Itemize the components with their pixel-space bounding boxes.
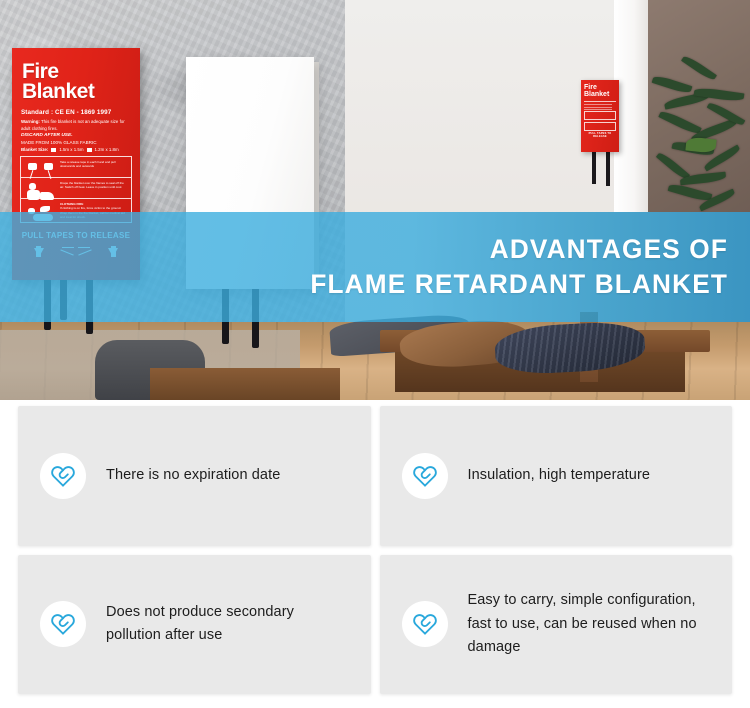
wall-package-rule bbox=[584, 104, 612, 105]
step-pictogram-pull-tapes bbox=[24, 160, 57, 175]
heart-icon bbox=[402, 601, 448, 647]
step-text: Drape the blanket over the flames to sea… bbox=[60, 181, 128, 196]
step-pictogram-drape-blanket bbox=[24, 181, 57, 196]
package-material: MADE FROM 100% GLASS FABRIC bbox=[12, 138, 140, 145]
package-warning: Warning: This fire blanket is not an ade… bbox=[12, 116, 140, 132]
wooden-table bbox=[150, 368, 340, 400]
size-checkbox-1 bbox=[51, 148, 56, 152]
banner-headline-line1: ADVANTAGES OF bbox=[127, 232, 728, 267]
instruction-step: Take a release tape in each hand and pul… bbox=[21, 157, 131, 178]
hero-photo: Fire Blanket Standard : CE EN - 1869 199… bbox=[0, 0, 750, 400]
white-pillar bbox=[614, 0, 648, 212]
wall-package-rule bbox=[584, 101, 616, 102]
feature-text: There is no expiration date bbox=[106, 464, 280, 487]
feature-card-easy-to-carry[interactable]: Easy to carry, simple configuration, fas… bbox=[380, 555, 733, 695]
wall-mounted-fire-blanket: Fire Blanket PULL TAPES TO RELEASE bbox=[581, 80, 619, 152]
wall-package-pictogram bbox=[584, 111, 616, 120]
instruction-step: Drape the blanket over the flames to sea… bbox=[21, 178, 131, 199]
feature-card-no-pollution[interactable]: Does not produce secondary pollution aft… bbox=[18, 555, 371, 695]
product-advantages-infographic: Fire Blanket Standard : CE EN - 1869 199… bbox=[0, 0, 750, 708]
package-title-line2: Blanket bbox=[22, 80, 94, 103]
package-size-option-1: 1.5m x 1.5m bbox=[59, 147, 83, 152]
feature-card-grid: There is no expiration date Insulation, … bbox=[18, 406, 732, 694]
wall-package-tape-left bbox=[592, 152, 596, 184]
banner-headline: ADVANTAGES OF FLAME RETARDANT BLANKET bbox=[108, 232, 728, 301]
step-body: Take a release tape in each hand and pul… bbox=[60, 160, 116, 169]
wall-package-pictogram bbox=[584, 122, 616, 131]
package-title: Fire Blanket bbox=[12, 48, 140, 102]
feature-card-insulation[interactable]: Insulation, high temperature bbox=[380, 406, 733, 546]
wall-package-tape-right bbox=[606, 152, 610, 186]
step-body: Drape the blanket over the flames to sea… bbox=[60, 181, 124, 190]
package-size-row: Blanket Size: 1.5m x 1.5m 1.2m x 1.8m bbox=[12, 145, 140, 152]
wall-package-title-line2: Blanket bbox=[584, 91, 609, 98]
banner-headline-line2: FLAME RETARDANT BLANKET bbox=[127, 267, 728, 302]
feature-text: Insulation, high temperature bbox=[468, 464, 651, 487]
package-warning-label: Warning: bbox=[21, 119, 40, 124]
step-text: Take a release tape in each hand and pul… bbox=[60, 160, 128, 175]
heart-icon bbox=[402, 453, 448, 499]
wall-package-title: Fire Blanket bbox=[584, 85, 616, 98]
package-size-option-2: 1.2m x 1.8m bbox=[95, 147, 119, 152]
package-standard: Standard : CE EN - 1869 1997 bbox=[12, 102, 140, 116]
feature-text: Does not produce secondary pollution aft… bbox=[106, 601, 353, 648]
wall-package-pull-instruction: PULL TAPES TO RELEASE bbox=[584, 132, 616, 138]
feature-text: Easy to carry, simple configuration, fas… bbox=[468, 589, 715, 659]
package-size-label: Blanket Size: bbox=[21, 147, 48, 152]
size-checkbox-2 bbox=[87, 148, 92, 152]
wall-package-rule bbox=[584, 109, 612, 110]
wall-package-rule bbox=[584, 107, 612, 108]
feature-card-no-expiration[interactable]: There is no expiration date bbox=[18, 406, 371, 546]
heart-icon bbox=[40, 601, 86, 647]
houseplant bbox=[646, 34, 750, 212]
heart-icon bbox=[40, 453, 86, 499]
